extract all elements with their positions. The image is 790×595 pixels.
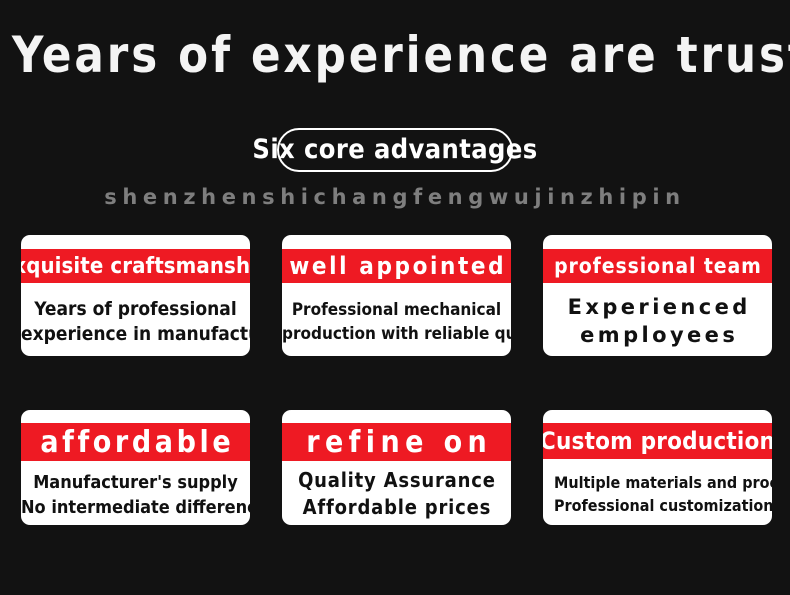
advantage-card-heading: affordable [21,423,250,461]
advantage-card-line: Professional mechanical [282,298,511,322]
advantage-card-heading: professional team [543,249,772,283]
advantage-card-body: Experienced employees [543,283,772,356]
pinyin-subtitle: shenzhenshichangfengwujinzhipin [0,184,790,210]
advantage-card-body: Multiple materials and processes Profess… [543,459,772,525]
advantage-card: Exquisite craftsmanship Years of profess… [21,235,250,356]
advantage-card-heading: Custom production [543,423,772,459]
advantage-card-heading: well appointed [282,249,511,283]
section-badge: Six core advantages [277,128,513,172]
advantage-card: well appointed Professional mechanical p… [282,235,511,356]
advantage-card-body: Years of professional experience in manu… [21,283,250,356]
page-title: Years of experience are trustworthy [12,26,778,84]
advantage-card-line: Multiple materials and processes [554,471,772,494]
advantage-card-line: Experienced [543,293,772,321]
advantage-card-line: Years of professional [21,297,250,322]
advantage-card-line: Quality Assurance [282,467,511,494]
section-badge-label: Six core advantages [252,136,537,164]
advantage-card-line: production with reliable quality [282,322,511,346]
advantage-card-body: Manufacturer's supply No intermediate di… [21,461,250,525]
advantage-card-line: Manufacturer's supply [21,470,250,495]
advantage-card-heading: refine on [282,423,511,461]
advantage-card: affordable Manufacturer's supply No inte… [21,410,250,525]
advantage-card-heading: Exquisite craftsmanship [21,249,250,283]
advantage-card-line: employees [543,321,772,349]
advantage-card: Custom production Multiple materials and… [543,410,772,525]
advantage-card-line: Affordable prices [282,494,511,521]
advantage-card-line: Professional customization [554,494,772,517]
advantage-card-line: No intermediate difference [21,495,250,520]
advantages-grid: Exquisite craftsmanship Years of profess… [21,235,769,525]
advantage-card: professional team Experienced employees [543,235,772,356]
advantage-card-body: Quality Assurance Affordable prices [282,461,511,525]
advantage-card-line: experience in manufacturing [21,322,250,347]
advantage-card: refine on Quality Assurance Affordable p… [282,410,511,525]
advantage-card-body: Professional mechanical production with … [282,283,511,356]
